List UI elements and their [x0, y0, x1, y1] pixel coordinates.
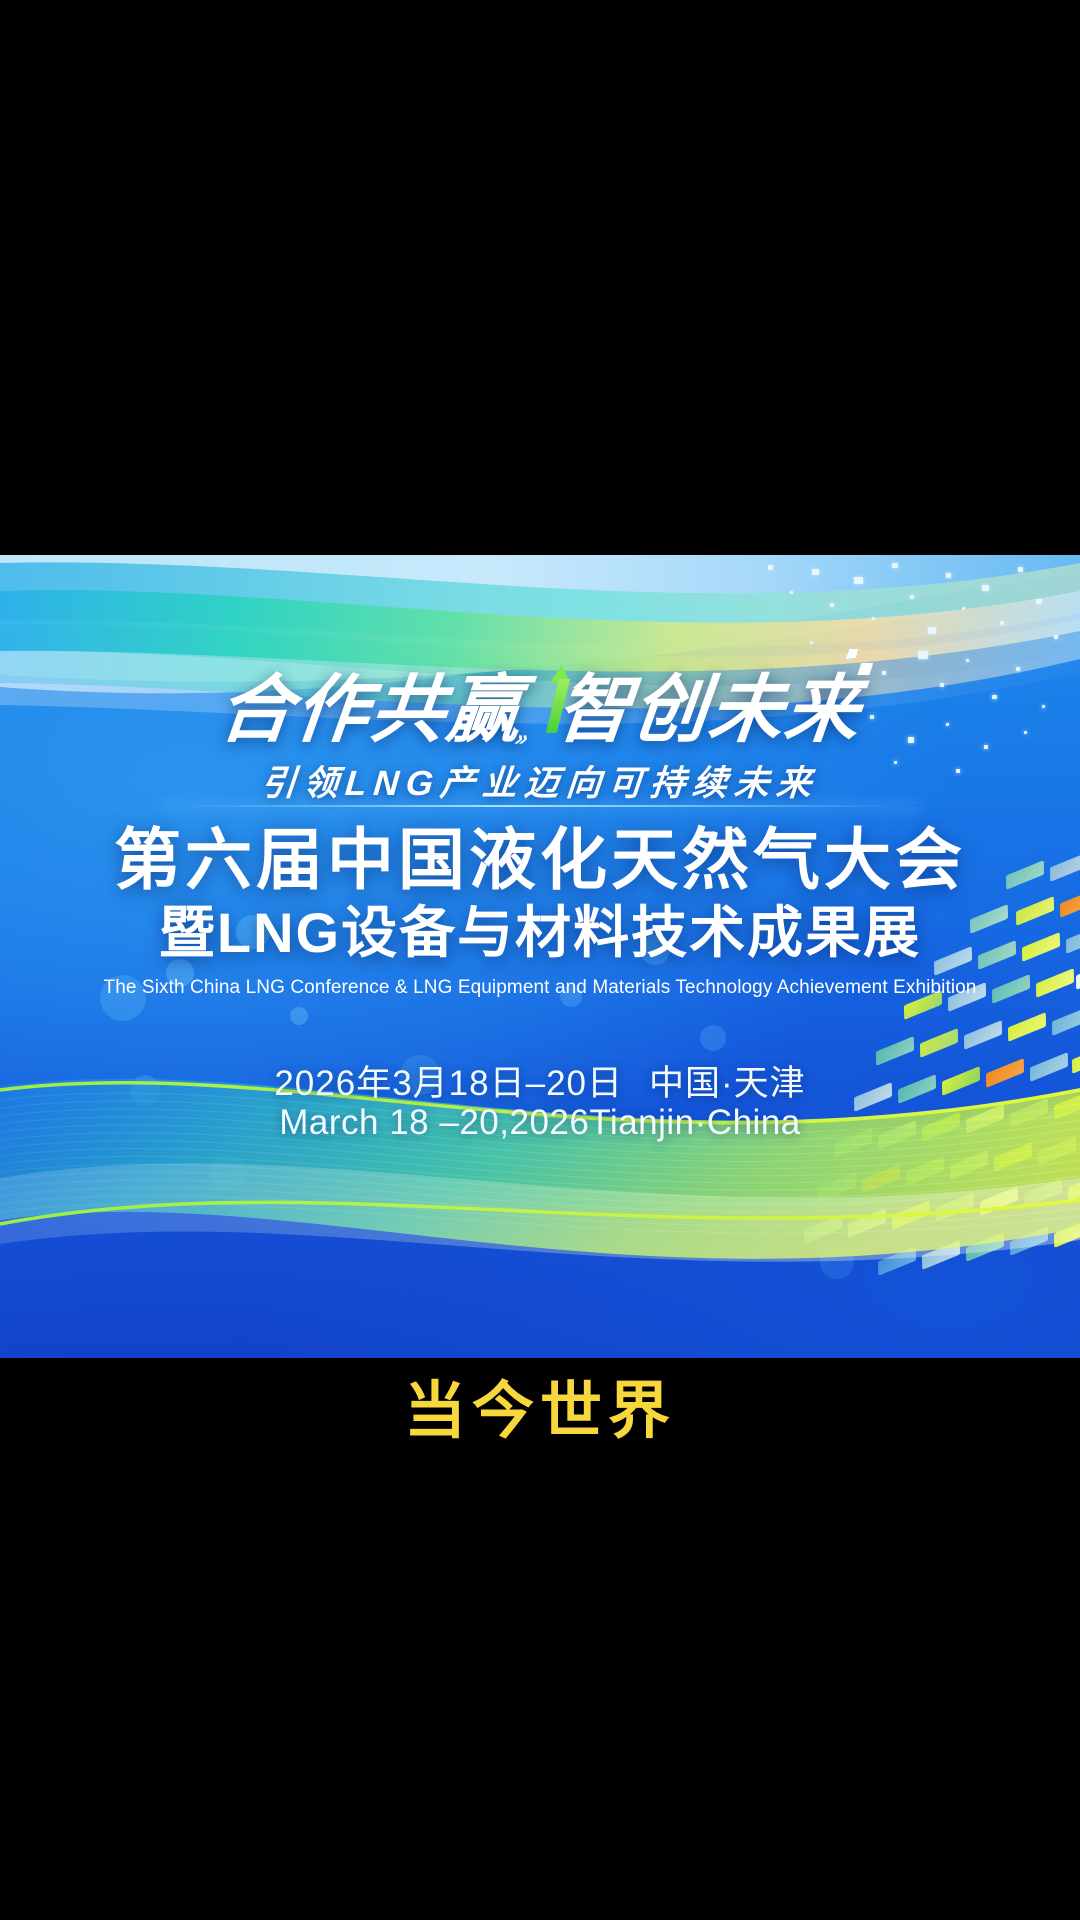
slogan-row: 合作共赢智创未来 »	[0, 673, 1080, 747]
date-cn: 2026年3月18日–20日	[274, 1064, 623, 1103]
tick-accent-icon-2	[847, 649, 859, 658]
conference-banner: 合作共赢智创未来 » 引领LNG产业迈向可持续未来 第六届中国液化天然气大会 暨…	[0, 555, 1080, 1358]
location-cn: 中国·天津	[649, 1064, 806, 1103]
date-location-cn: 2026年3月18日–20日中国·天津	[0, 1055, 1080, 1106]
video-caption: 当今世界	[0, 1360, 1080, 1450]
conference-title-en: The Sixth China LNG Conference & LNG Equ…	[0, 977, 1080, 999]
tick-accent-icon	[857, 663, 873, 675]
banner-content: 合作共赢智创未来 » 引领LNG产业迈向可持续未来 第六届中国液化天然气大会 暨…	[0, 555, 1080, 1358]
sub-slogan: 引领LNG产业迈向可持续未来	[0, 755, 1080, 806]
conference-title-cn-line2: 暨LNG设备与材料技术成果展	[0, 903, 1080, 963]
date-en: March 18 –20,2026	[279, 1103, 589, 1142]
location-en: Tianjin·China	[589, 1103, 800, 1142]
divider-line	[160, 805, 920, 807]
conference-title-cn-line1: 第六届中国液化天然气大会	[0, 825, 1080, 897]
slogan-part-2: 智创未来	[553, 668, 866, 751]
main-slogan: 合作共赢智创未来 »	[215, 673, 865, 747]
screen: 合作共赢智创未来 » 引领LNG产业迈向可持续未来 第六届中国液化天然气大会 暨…	[0, 0, 1080, 1920]
slogan-part-1: 合作共赢	[215, 668, 528, 751]
date-location-en: March 18 –20,2026Tianjin·China	[0, 1103, 1080, 1143]
